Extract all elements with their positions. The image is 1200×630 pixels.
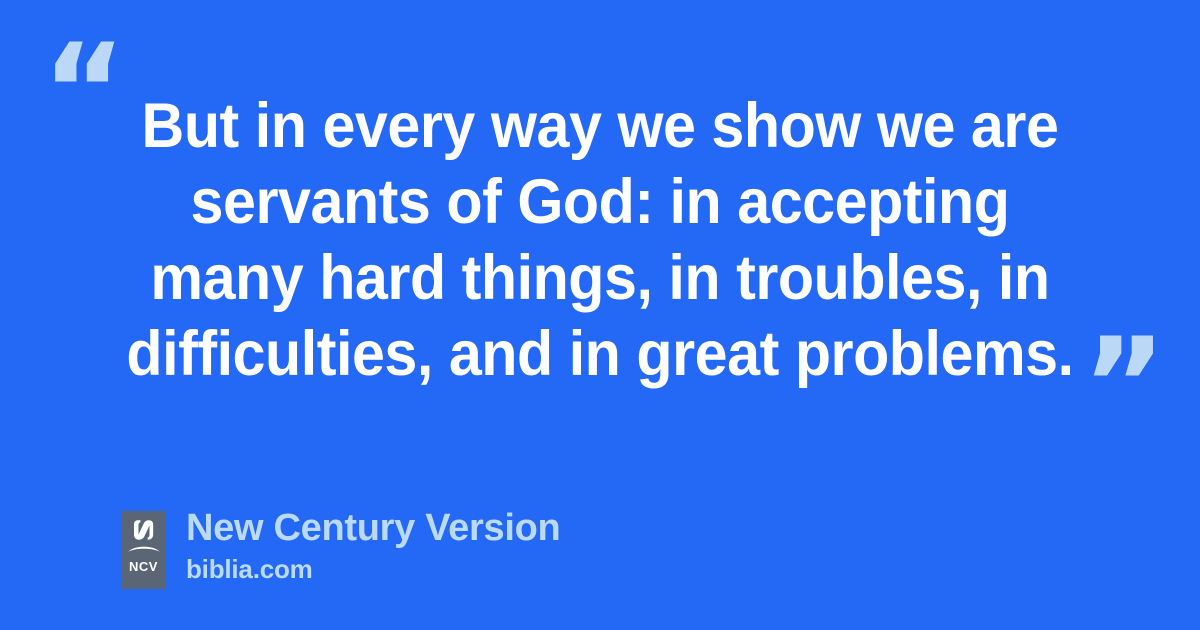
- quote-text-block: But in every way we show we are servants…: [60, 88, 1140, 392]
- attribution[interactable]: NCV New Century Version biblia.com: [121, 505, 560, 589]
- quote-line: difficulties, and in great problems.: [92, 316, 1107, 392]
- logo-n-glyph-icon: [133, 519, 155, 541]
- quote-card: “ But in every way we show we are servan…: [0, 0, 1200, 630]
- quote-line: servants of God: in accepting: [92, 164, 1107, 240]
- logo-mark: [121, 519, 166, 559]
- attribution-text: New Century Version biblia.com: [186, 505, 560, 585]
- logo-arc-icon: [127, 543, 161, 553]
- quote-line: But in every way we show we are: [92, 88, 1107, 164]
- closing-quote-icon: ”: [1082, 322, 1164, 450]
- quote-line: many hard things, in troubles, in: [92, 240, 1107, 316]
- logo-abbreviation: NCV: [121, 559, 166, 574]
- site-name-link[interactable]: biblia.com: [186, 553, 560, 585]
- bible-version-name: New Century Version: [186, 505, 560, 551]
- ncv-bible-logo-icon: NCV: [121, 511, 166, 589]
